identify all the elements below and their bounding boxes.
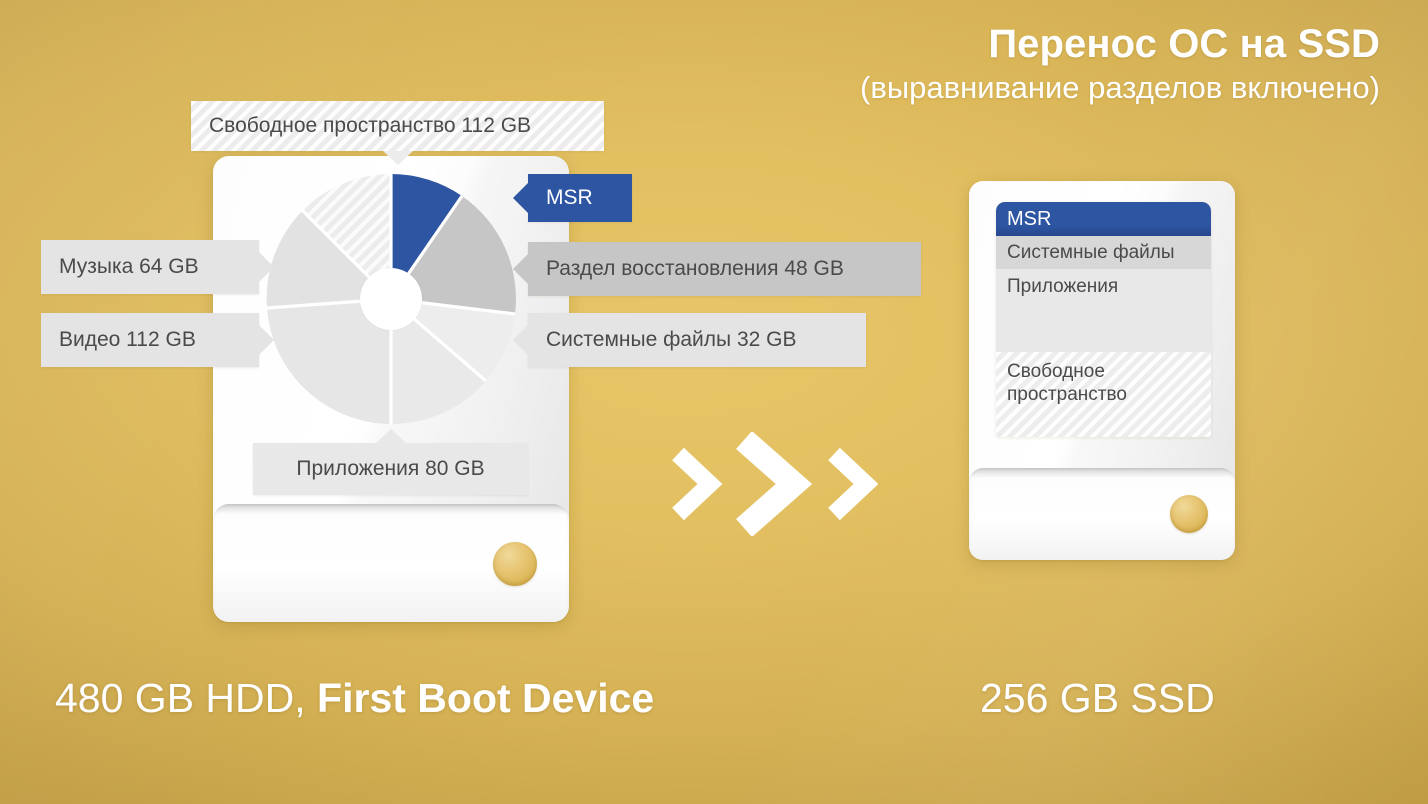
source-drive-caption-bold: First Boot Device (317, 675, 654, 721)
header-block: Перенос ОС на SSD (выравнивание разделов… (860, 22, 1380, 106)
page-subtitle: (выравнивание разделов включено) (860, 69, 1380, 106)
ssd-partition-msr: MSR (996, 202, 1211, 236)
callout-music: Музыка 64 GB (41, 240, 259, 294)
ssd-partition-stack: MSR Системные файлы Приложения Свободное… (996, 202, 1211, 437)
ssd-partition-system-files-label: Системные файлы (1007, 242, 1175, 264)
hdd-indicator-dot (493, 542, 537, 586)
callout-pointer-right-icon (259, 325, 274, 355)
ssd-partition-free-space-label: Свободное пространство (1007, 360, 1127, 406)
callout-system-files-label: Системные файлы 32 GB (546, 328, 797, 352)
source-drive-caption: 480 GB HDD, First Boot Device (55, 675, 654, 722)
chevron-right-icon (834, 454, 866, 514)
callout-pointer-up-icon (376, 429, 406, 443)
ssd-partition-free-space: Свободное пространство (996, 352, 1211, 437)
callout-free-space: Свободное пространство 112 GB (191, 101, 604, 151)
callout-msr-label: MSR (546, 186, 593, 210)
donut-center-hole (360, 268, 422, 330)
callout-video-label: Видео 112 GB (59, 328, 196, 352)
callout-pointer-down-icon (383, 151, 413, 165)
hdd-front-panel (213, 504, 569, 622)
callout-applications: Приложения 80 GB (253, 443, 528, 495)
chevron-right-icon (678, 454, 710, 514)
callout-free-space-label: Свободное пространство 112 GB (209, 114, 531, 138)
transfer-arrows (668, 432, 878, 536)
callout-recovery: Раздел восстановления 48 GB (528, 242, 921, 296)
ssd-partition-msr-label: MSR (1007, 208, 1051, 231)
chevron-right-icon (744, 440, 794, 528)
source-drive-caption-plain: 480 GB HDD, (55, 675, 317, 721)
ssd-free-space-line2: пространство (1007, 383, 1127, 406)
target-drive-caption: 256 GB SSD (980, 675, 1215, 722)
callout-applications-label: Приложения 80 GB (296, 457, 484, 481)
ssd-partition-applications-label: Приложения (1007, 276, 1118, 298)
chevron-group-svg (668, 432, 878, 536)
callout-video: Видео 112 GB (41, 313, 259, 367)
page-title: Перенос ОС на SSD (860, 22, 1380, 67)
ssd-partition-system-files: Системные файлы (996, 236, 1211, 269)
ssd-front-panel (969, 468, 1235, 560)
callout-music-label: Музыка 64 GB (59, 255, 199, 279)
ssd-free-space-line1: Свободное (1007, 360, 1127, 383)
callout-pointer-right-icon (259, 252, 274, 282)
callout-recovery-label: Раздел восстановления 48 GB (546, 257, 844, 281)
callout-pointer-left-icon (513, 183, 528, 213)
ssd-partition-applications: Приложения (996, 269, 1211, 352)
ssd-indicator-dot (1170, 495, 1208, 533)
hdd-usage-donut-chart (262, 170, 520, 428)
callout-pointer-left-icon (513, 325, 528, 355)
callout-msr: MSR (528, 174, 632, 222)
callout-pointer-left-icon (513, 254, 528, 284)
callout-system-files: Системные файлы 32 GB (528, 313, 866, 367)
